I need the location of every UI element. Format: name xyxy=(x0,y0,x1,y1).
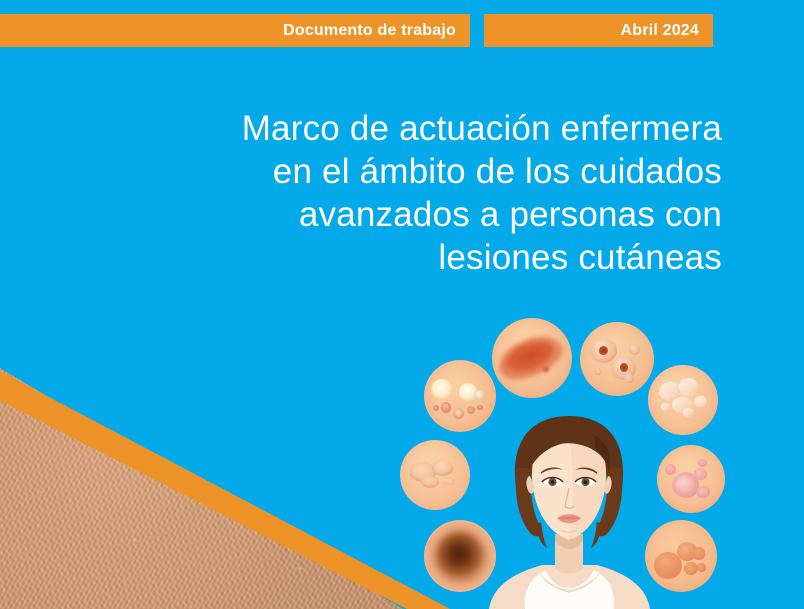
skin-texture-fill xyxy=(0,330,430,609)
woman-portrait-illustration xyxy=(487,412,652,609)
page-title: Marco de actuación enfermera en el ámbit… xyxy=(162,107,722,279)
skin-texture-photo xyxy=(0,330,430,609)
plaques-lesion xyxy=(648,365,718,435)
wheals-lesion xyxy=(400,440,470,510)
date-ribbon: Abril 2024 xyxy=(484,14,713,47)
melanoma-lesion xyxy=(424,520,496,592)
working-document-label: Documento de trabajo xyxy=(283,22,456,40)
date-label: Abril 2024 xyxy=(621,22,699,40)
pustules-lesion xyxy=(424,360,496,432)
papules-lesion xyxy=(657,445,725,513)
vesicles-lesion xyxy=(580,322,654,396)
nodules-lesion xyxy=(645,520,717,592)
document-cover: Documento de trabajo Abril 2024 Marco de… xyxy=(0,0,804,609)
erythema-lesion xyxy=(492,318,572,398)
working-document-ribbon: Documento de trabajo xyxy=(0,14,470,47)
